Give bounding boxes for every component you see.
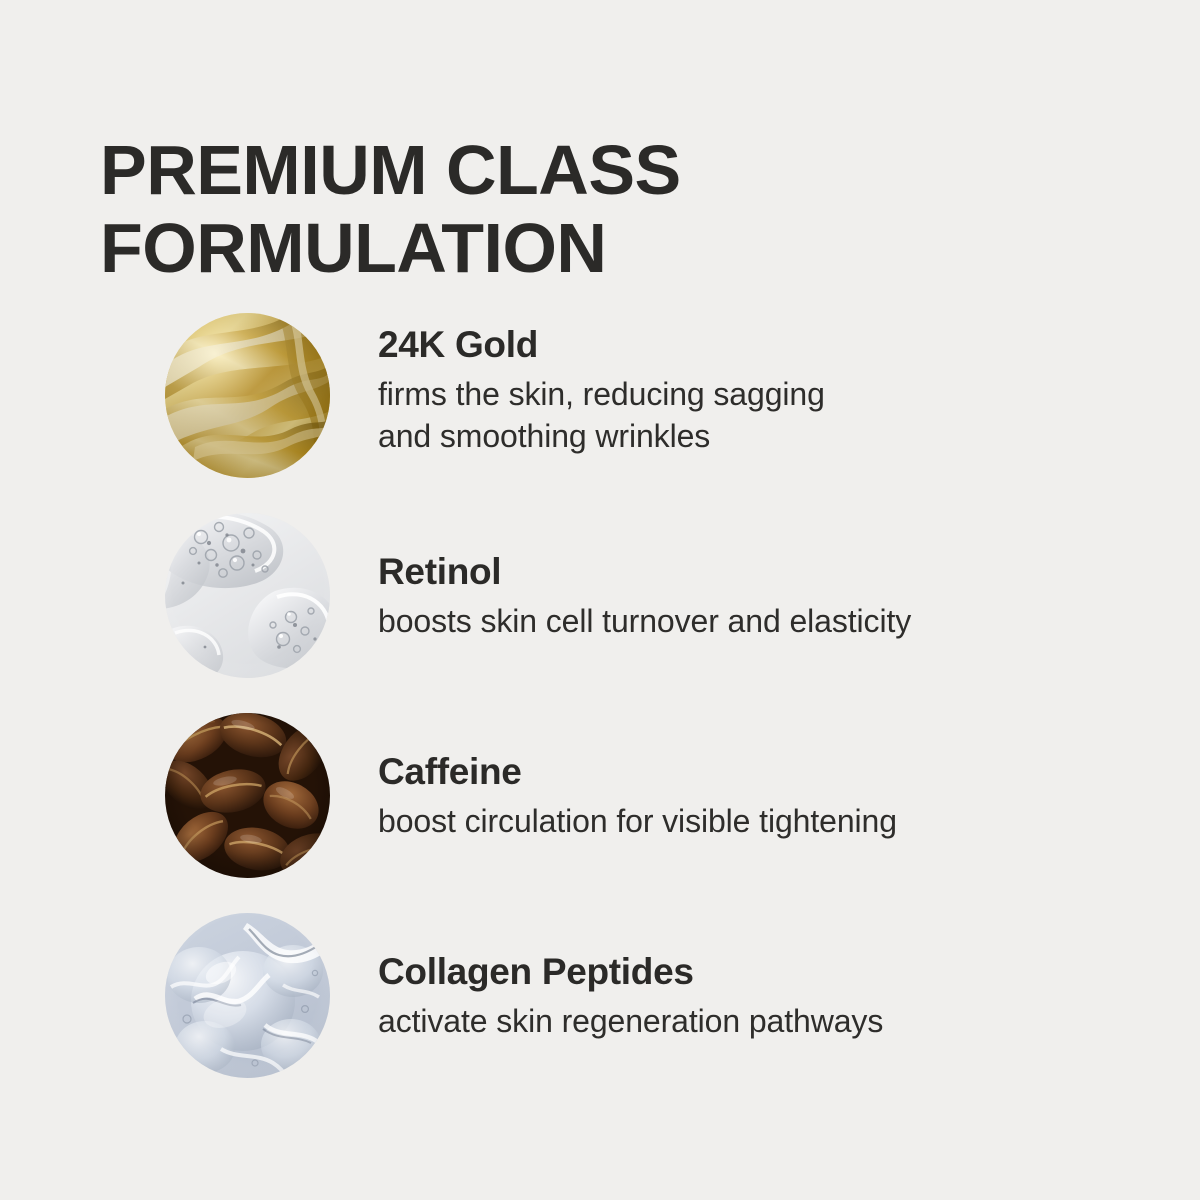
list-item: Retinol boosts skin cell turnover and el… <box>0 513 1200 678</box>
list-item: Caffeine boost circulation for visible t… <box>0 713 1200 878</box>
list-item: 24K Gold firms the skin, reducing saggin… <box>0 313 1200 478</box>
ingredient-text: Retinol boosts skin cell turnover and el… <box>378 513 1168 678</box>
gold-silk-texture-thumbnail <box>165 313 330 478</box>
ingredient-name: 24K Gold <box>378 323 1168 367</box>
clear-gel-bubbles-thumbnail <box>165 513 330 678</box>
ingredient-description: boosts skin cell turnover and elasticity <box>378 600 1168 642</box>
ingredient-text: Caffeine boost circulation for visible t… <box>378 713 1168 878</box>
page-title: PREMIUM CLASS FORMULATION <box>100 131 800 287</box>
ingredient-text: 24K Gold firms the skin, reducing saggin… <box>378 313 1168 488</box>
ingredient-name: Collagen Peptides <box>378 950 1168 994</box>
ingredient-description: boost circulation for visible tightening <box>378 800 1168 842</box>
ingredient-name: Caffeine <box>378 750 1168 794</box>
ingredient-description: firms the skin, reducing sagging and smo… <box>378 373 1168 457</box>
ingredient-list: 24K Gold firms the skin, reducing saggin… <box>0 313 1200 1113</box>
ingredient-description: activate skin regeneration pathways <box>378 1000 1168 1042</box>
water-droplet-gel-thumbnail <box>165 913 330 1078</box>
coffee-beans-thumbnail <box>165 713 330 878</box>
ingredient-name: Retinol <box>378 550 1168 594</box>
ingredient-text: Collagen Peptides activate skin regenera… <box>378 913 1168 1078</box>
list-item: Collagen Peptides activate skin regenera… <box>0 913 1200 1078</box>
promo-panel: PREMIUM CLASS FORMULATION <box>0 0 1200 1200</box>
